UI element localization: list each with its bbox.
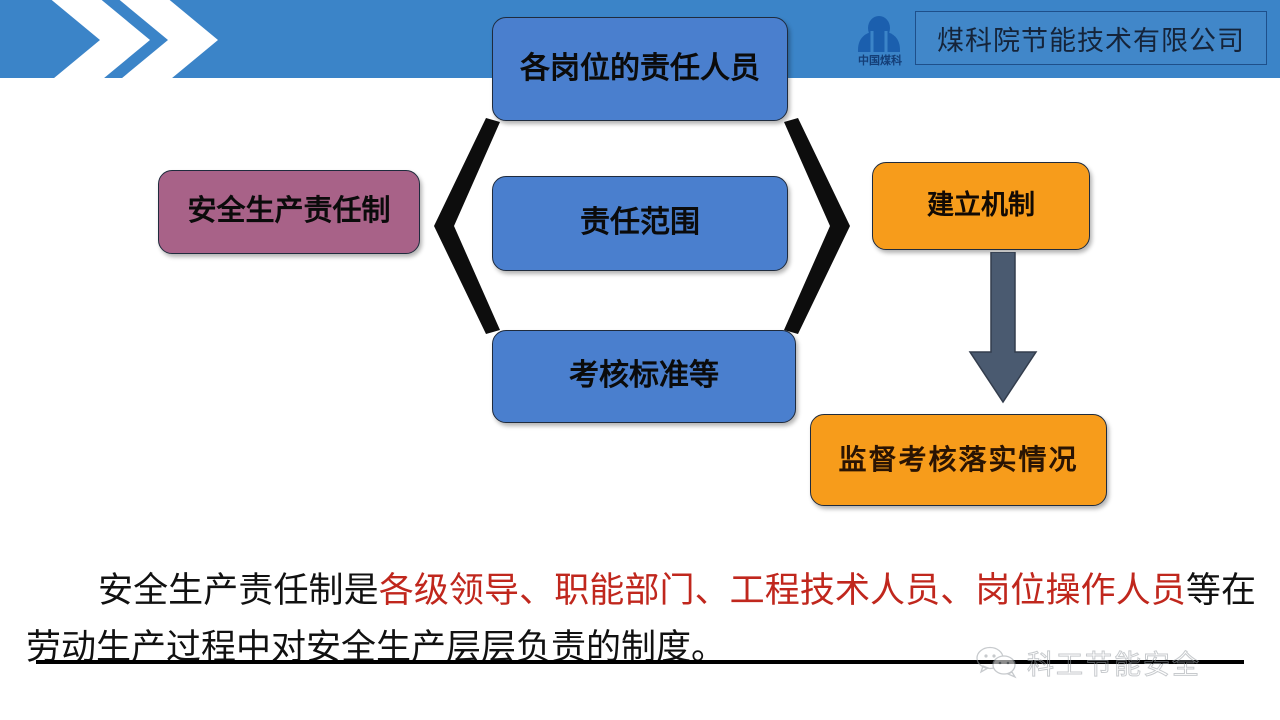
- logo-caption: 中国煤科: [840, 52, 920, 68]
- wechat-icon: [975, 645, 1019, 679]
- watermark: 科工节能安全: [975, 640, 1275, 684]
- right-angle-bracket-icon: [782, 118, 852, 334]
- diagram-node-responsibility-scope[interactable]: 责任范围: [492, 176, 788, 271]
- diagram-node-responsible-personnel[interactable]: 各岗位的责任人员: [492, 17, 788, 121]
- diagram-node-establish-mechanism[interactable]: 建立机制: [872, 162, 1090, 250]
- caption-highlight: 各级领导、职能部门、工程技术人员、岗位操作人员: [379, 571, 1186, 610]
- diagram-node-assessment-standards[interactable]: 考核标准等: [492, 330, 796, 423]
- watermark-text: 科工节能安全: [1027, 643, 1201, 682]
- caption-part-1: 安全生产责任制是: [98, 571, 379, 610]
- company-name-text: 煤科院节能技术有限公司: [937, 19, 1245, 58]
- chevron-arrows-icon: [38, 0, 228, 86]
- diagram-node-supervise-assessment[interactable]: 监督考核落实情况: [810, 414, 1107, 506]
- slide-canvas: 中国煤科 煤科院节能技术有限公司 各岗位的责任人员 责任范围 考核标准等 安全生…: [0, 0, 1280, 720]
- left-angle-bracket-icon: [432, 118, 502, 334]
- company-name-box: 煤科院节能技术有限公司: [915, 11, 1267, 65]
- diagram-node-safety-production-responsibility[interactable]: 安全生产责任制: [158, 170, 420, 254]
- down-arrow-icon: [960, 252, 1046, 404]
